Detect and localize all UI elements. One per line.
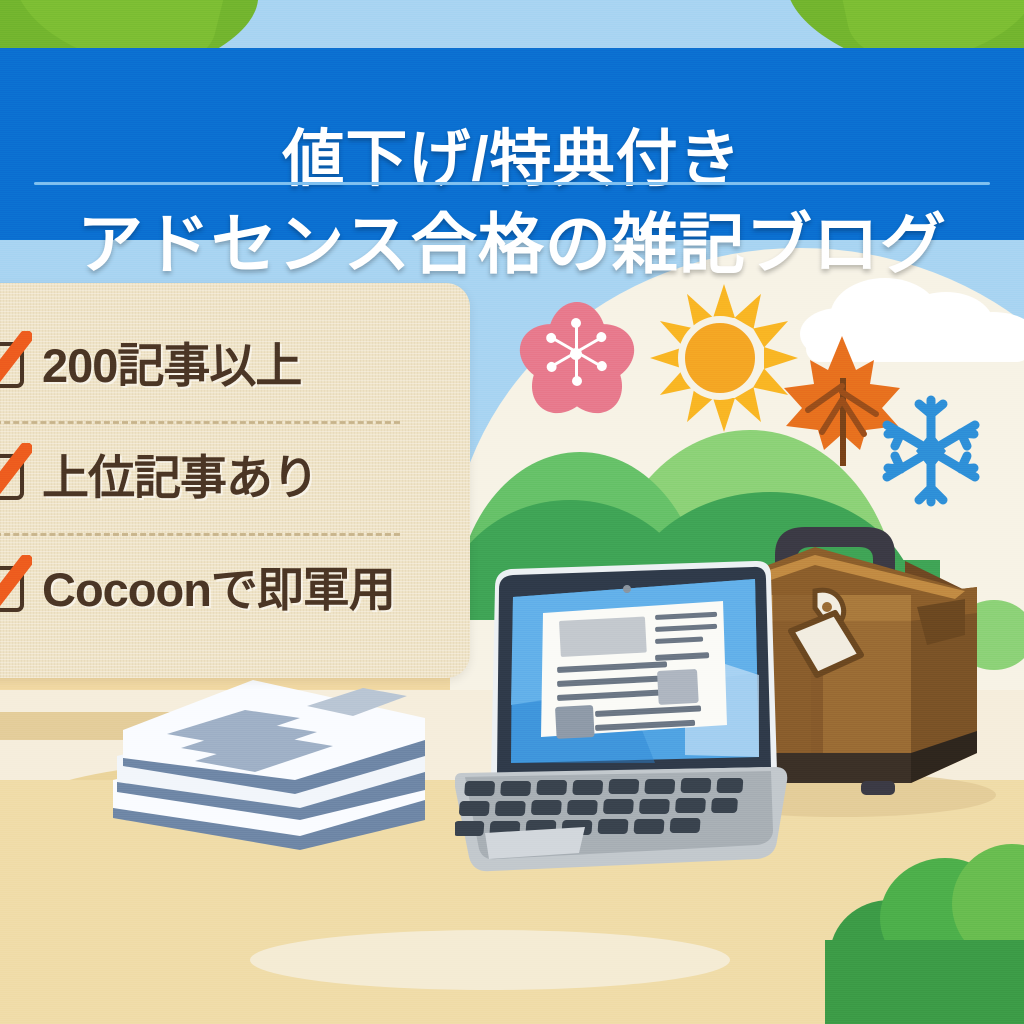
snowflake-icon [872,392,990,510]
sun-icon [650,288,790,428]
checklist-label: 200記事以上 [42,342,301,389]
laptop-icon [455,555,800,885]
checklist-item-3[interactable]: Cocoonで即軍用 [0,533,470,645]
cherry-blossom-icon [512,300,642,428]
check-mark-icon [0,443,32,507]
bush-base [825,940,1024,1024]
sand-highlight [250,930,730,990]
header-title-line2: アドセンス合格の雑記ブログ [0,191,1024,287]
check-mark-icon [0,555,32,619]
checklist-item-2[interactable]: 上位記事あり [0,421,470,533]
header-band: 値下げ/特典付き アドセンス合格の雑記ブログ [0,48,1024,240]
check-mark-icon [0,331,32,395]
header-divider [34,182,990,185]
checklist-label: 上位記事あり [42,454,318,501]
checklist-item-1[interactable]: 200記事以上 [0,309,470,421]
feature-card: 200記事以上 上位記事あり Cocoonで即軍用 [0,283,470,678]
checklist-label: Cocoonで即軍用 [42,566,395,613]
paper-stack-icon [95,668,425,853]
banner-canvas: 200記事以上 上位記事あり Cocoonで即軍用 値下げ/特典付き アドセンス… [0,0,1024,1024]
